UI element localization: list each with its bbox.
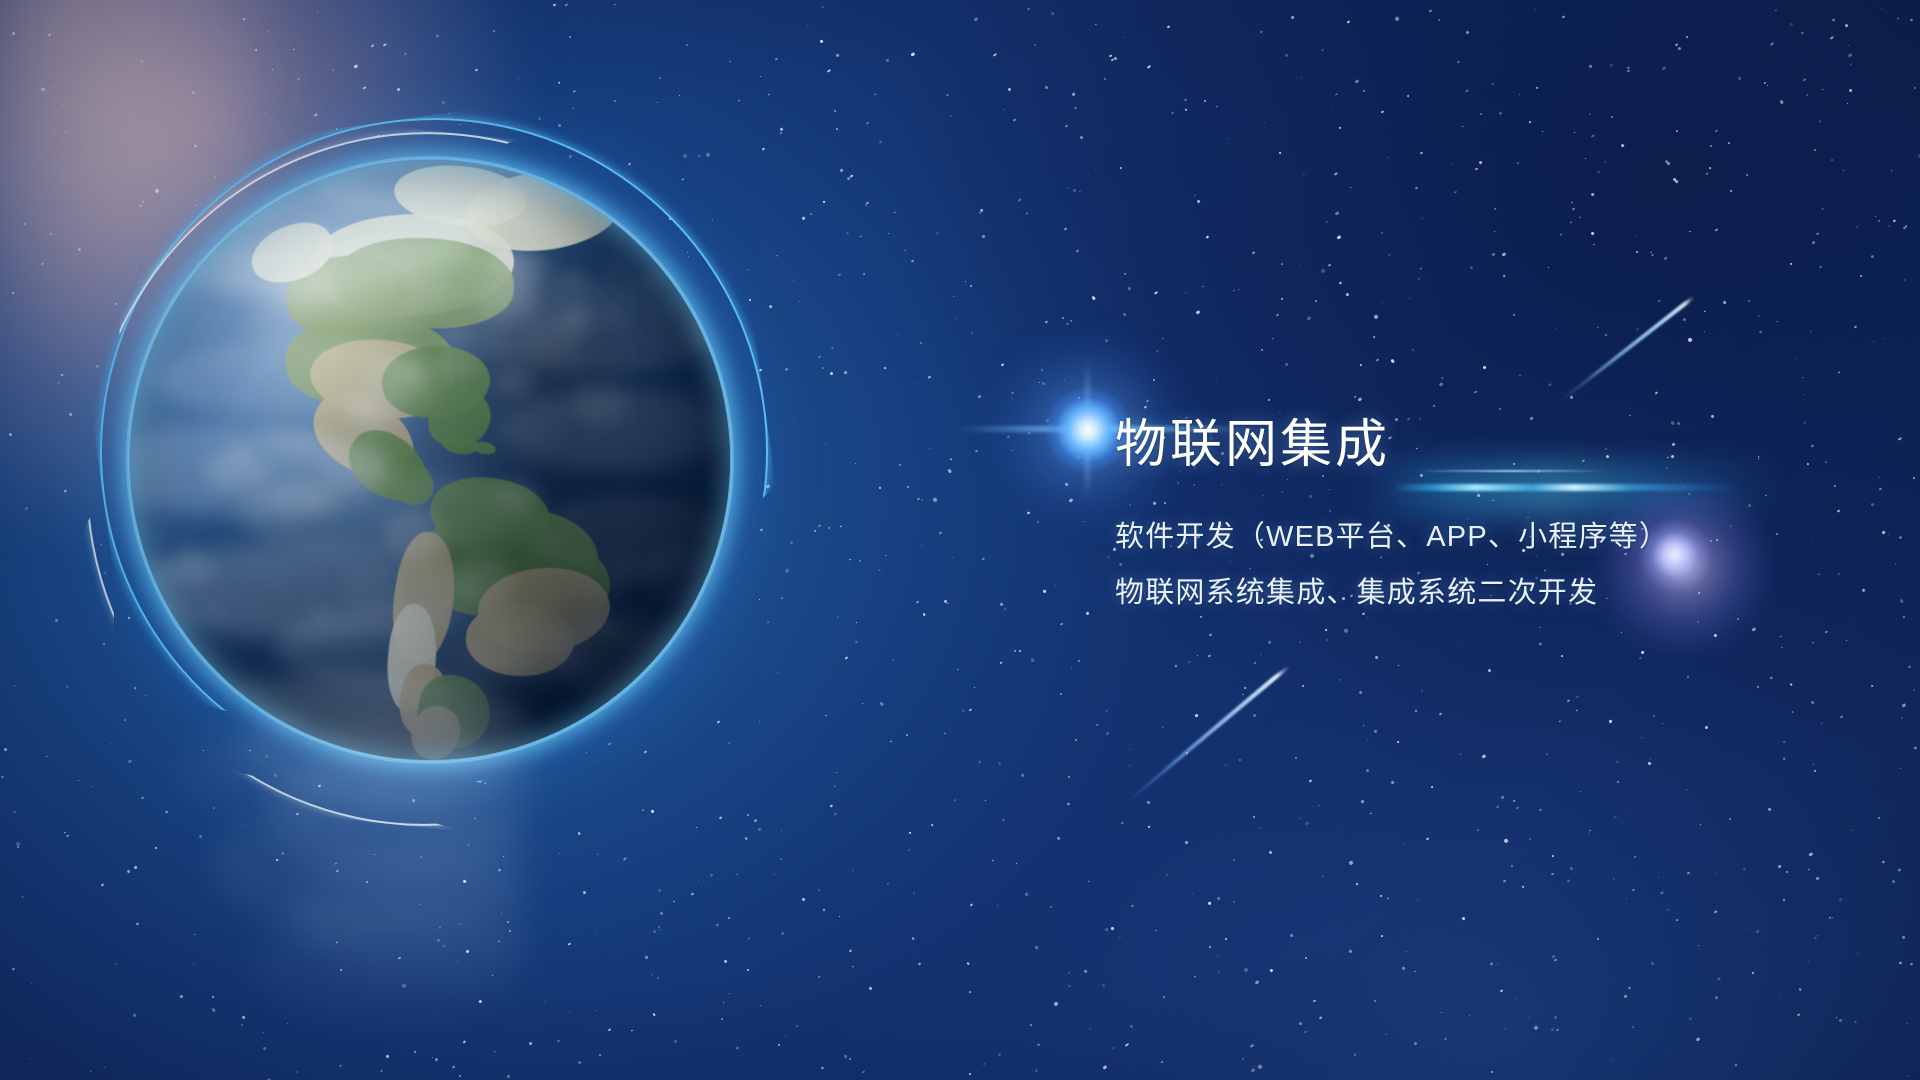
subtitle-line-2: 物联网系统集成、集成系统二次开发 (1115, 579, 1855, 608)
globe-sphere (130, 160, 730, 760)
page-title: 物联网集成 (1115, 418, 1855, 473)
banner-copy: 物联网集成 软件开发（WEB平台、APP、小程序等） 物联网系统集成、集成系统二… (1115, 418, 1855, 608)
earth-globe (130, 160, 730, 760)
hero-banner: 物联网集成 软件开发（WEB平台、APP、小程序等） 物联网系统集成、集成系统二… (0, 0, 1920, 1080)
subtitle-line-1: 软件开发（WEB平台、APP、小程序等） (1115, 523, 1855, 552)
globe-rim-shading (130, 160, 730, 760)
